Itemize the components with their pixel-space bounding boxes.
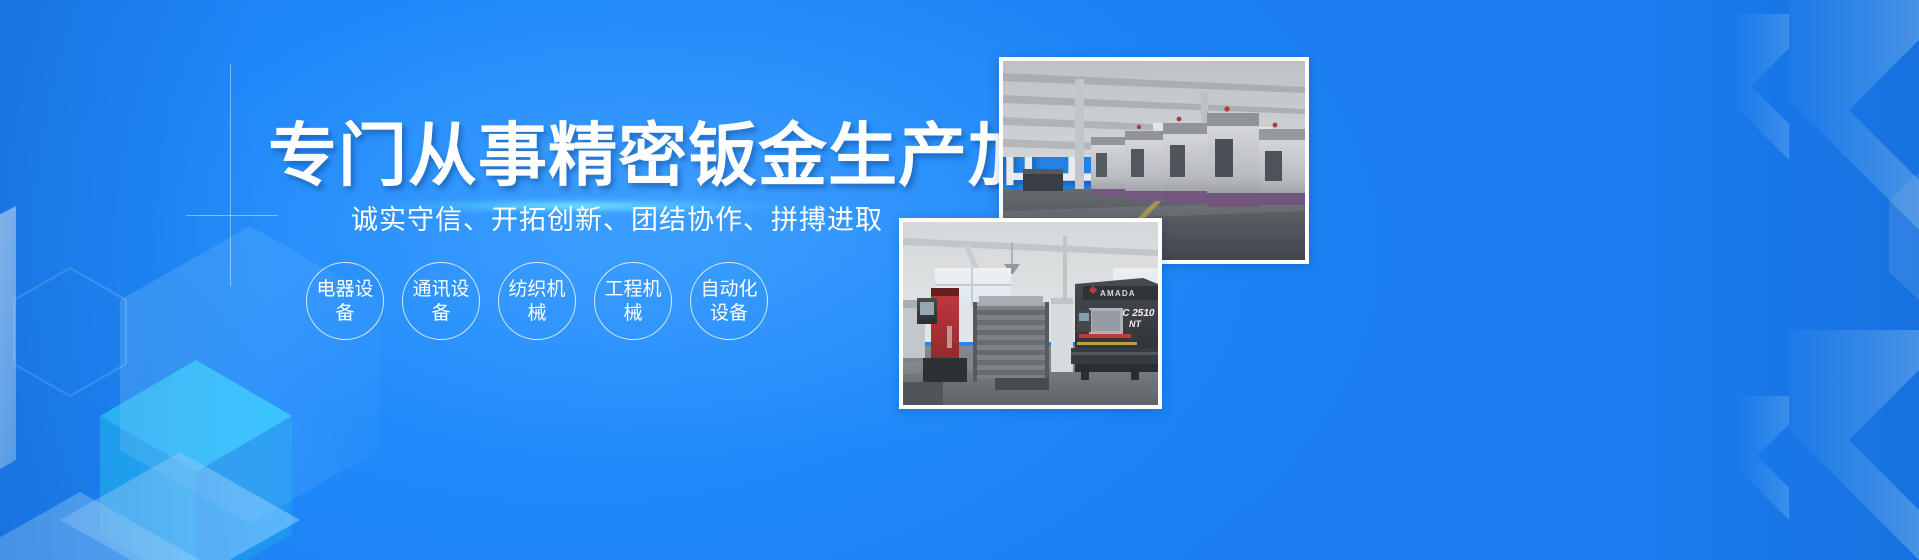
category-badge-label: 工程机械 (602, 277, 664, 325)
amada-laser-cutter-photo[interactable]: AMADA AC 2510 NT (899, 218, 1162, 409)
category-badge-label: 自动化设备 (698, 277, 760, 325)
category-badge-textile-machinery[interactable]: 纺织机械 (498, 262, 576, 340)
promotional-banner: 专门从事精密钣金生产加工 诚实守信、开拓创新、团结协作、拼搏进取 电器设备 通讯… (0, 0, 1919, 560)
category-badge-label: 电器设备 (314, 277, 376, 325)
category-badge-communication-equipment[interactable]: 通讯设备 (402, 262, 480, 340)
category-badge-electrical-equipment[interactable]: 电器设备 (306, 262, 384, 340)
page-title: 专门从事精密钣金生产加工 (268, 122, 1108, 191)
banner-subtitle: 诚实守信、开拓创新、团结协作、拼搏进取 (351, 207, 883, 234)
category-badge-automation-equipment[interactable]: 自动化设备 (690, 262, 768, 340)
banner-content: 专门从事精密钣金生产加工 诚实守信、开拓创新、团结协作、拼搏进取 电器设备 通讯… (0, 0, 1919, 560)
category-badge-list: 电器设备 通讯设备 纺织机械 工程机械 自动化设备 (306, 262, 768, 340)
category-badge-label: 纺织机械 (506, 277, 568, 325)
category-badge-engineering-machinery[interactable]: 工程机械 (594, 262, 672, 340)
category-badge-label: 通讯设备 (410, 277, 472, 325)
